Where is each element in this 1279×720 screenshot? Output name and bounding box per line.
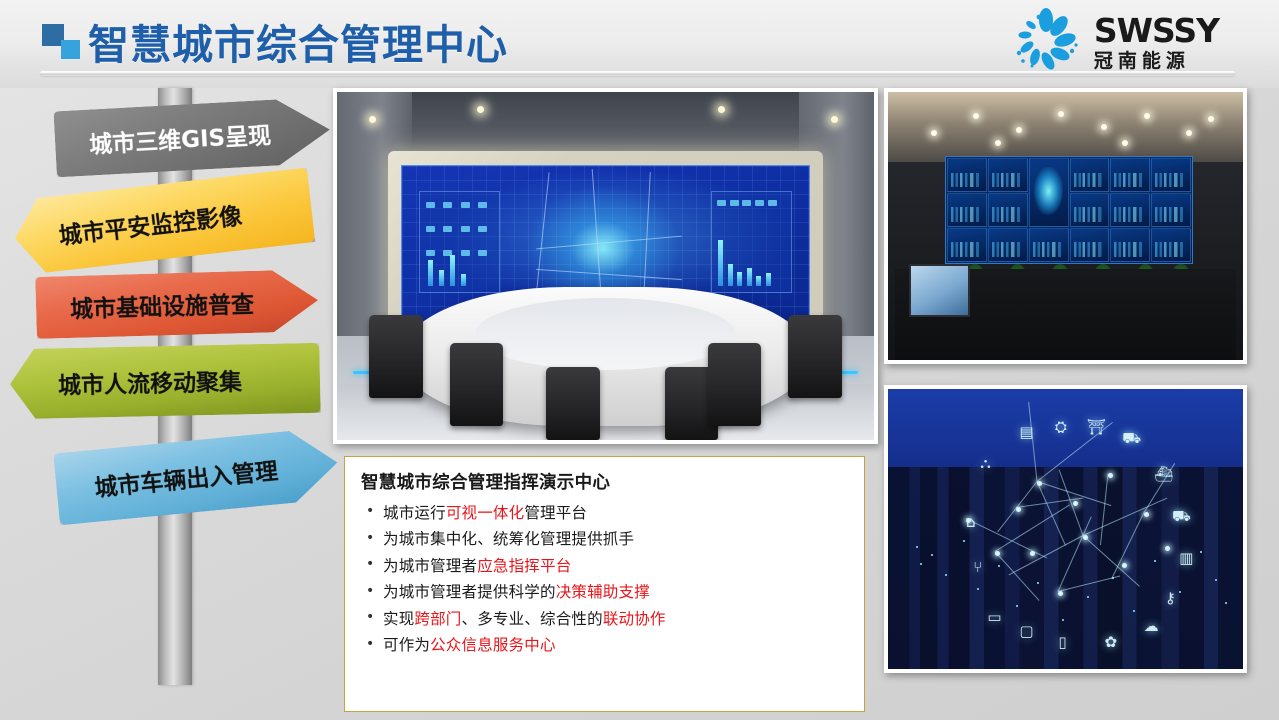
dashboard-map-tile <box>1029 158 1069 226</box>
cell-tower-icon: ⑂ <box>973 560 982 575</box>
decor-square-light-icon <box>61 40 80 59</box>
dashboard-tile <box>1110 193 1150 227</box>
highlighted-text: 公众信息服务中心 <box>430 636 556 654</box>
logo-chinese-name: 冠南能源 <box>1094 52 1219 71</box>
bullet-item: 为城市管理者提供科学的决策辅助支撑 <box>361 580 848 607</box>
bullet-text: 为城市管理者提供科学的 <box>383 583 556 601</box>
highlighted-text: 跨部门 <box>414 610 461 628</box>
train-icon: ⛴ <box>1154 467 1173 482</box>
dashboard-tile <box>1151 228 1191 262</box>
device-icon: ▭ <box>987 610 1001 625</box>
signpost-arrow-vehicle-access[interactable]: 城市车辆出入管理 <box>53 427 341 526</box>
command-center-room-photo <box>333 88 878 444</box>
dashboard-tile <box>1070 228 1110 262</box>
photo-canvas <box>888 92 1243 360</box>
photo-canvas: ▤ ⛭ ⛩ ⛟ ⛬ ⛴ ⌂ ⛟ ⑂ ▥ ▭ ▢ ▯ ✿ ☁ ⚷ <box>888 389 1243 669</box>
dashboard-tile <box>988 193 1028 227</box>
highlighted-text: 决策辅助支撑 <box>556 583 650 601</box>
highlighted-text: 联动协作 <box>603 610 666 628</box>
photo-canvas <box>337 92 874 440</box>
dashboard-tile <box>988 158 1028 192</box>
dashboard-tile <box>1110 228 1150 262</box>
signpost-arrow-crowd-flow[interactable]: 城市人流移动聚集 <box>9 343 320 419</box>
bullet-text: 城市运行 <box>383 504 446 522</box>
car-icon: ⛟ <box>1122 431 1141 446</box>
signpost-arrow-label: 城市基础设施普查 <box>70 285 255 324</box>
slide-header: 智慧城市综合管理中心 <box>0 0 1279 88</box>
room-ceiling <box>888 92 1243 162</box>
shopping-cart-icon: ⛬ <box>980 456 991 471</box>
dashboard-tile <box>947 193 987 227</box>
office-chair <box>788 315 842 399</box>
bullet-text: 为城市集中化、统筹化管理提供抓手 <box>383 530 634 548</box>
vehicle-icon: ⛟ <box>1172 509 1191 524</box>
bullet-text: 管理平台 <box>524 504 587 522</box>
signpost-arrow-label: 城市平安监控影像 <box>57 196 244 251</box>
highlighted-text: 应急指挥平台 <box>477 557 571 575</box>
office-chair <box>450 343 504 427</box>
highlighted-text: 可视一体化 <box>446 504 525 522</box>
key-icon: ⚷ <box>1165 591 1176 606</box>
dashboard-tile <box>1151 193 1191 227</box>
dashboard-tile <box>1110 158 1150 192</box>
bullet-text: 可作为 <box>383 636 430 654</box>
screen-panel-left <box>419 191 500 292</box>
dashboard-tile <box>1070 158 1110 192</box>
signpost-arrow-label: 城市三维GIS呈现 <box>88 116 272 160</box>
ceiling-light-icon <box>477 106 484 113</box>
water-droplet-flower-logo-icon <box>1010 7 1082 77</box>
desktop-monitor <box>909 264 969 318</box>
logo-wordmark: SWSSY <box>1094 14 1219 47</box>
dashboard-tile <box>947 158 987 192</box>
factory-icon: ⛭ <box>1055 420 1067 435</box>
bullet-item: 为城市管理者应急指挥平台 <box>361 553 848 580</box>
smart-city-iot-network-photo: ▤ ⛭ ⛩ ⛟ ⛬ ⛴ ⌂ ⛟ ⑂ ▥ ▭ ▢ ▯ ✿ ☁ ⚷ <box>884 385 1247 673</box>
signpost-arrow-infrastructure[interactable]: 城市基础设施普查 <box>35 269 319 339</box>
dashboard-tile <box>1070 193 1110 227</box>
gear-icon: ✿ <box>1105 635 1118 650</box>
signpost-group: 城市三维GIS呈现 城市平安监控影像 城市基础设施普查 城市人流移动聚集 城市车… <box>0 88 340 720</box>
page-title: 智慧城市综合管理中心 <box>88 11 508 71</box>
bullet-text: 、多专业、综合性的 <box>462 610 603 628</box>
dashboard-tile <box>947 228 987 262</box>
signpost-arrow-label: 城市车辆出入管理 <box>93 451 279 502</box>
phone-icon: ▯ <box>1058 635 1066 650</box>
control-room-videowall-photo <box>884 88 1247 364</box>
screen-panel-right <box>711 191 792 292</box>
bullet-list: 城市运行可视一体化管理平台为城市集中化、统筹化管理提供抓手为城市管理者应急指挥平… <box>361 500 848 659</box>
server-icon: ▥ <box>1179 551 1193 566</box>
bullet-item: 城市运行可视一体化管理平台 <box>361 500 848 527</box>
office-chair <box>369 315 423 399</box>
office-chair <box>708 343 762 427</box>
company-logo: SWSSY 冠南能源 <box>1010 6 1219 78</box>
building-icon: ▤ <box>1019 425 1033 440</box>
tower-icon: ⛩ <box>1087 420 1106 435</box>
bullet-item: 为城市集中化、统筹化管理提供抓手 <box>361 527 848 554</box>
laptop-icon: ▢ <box>1019 624 1033 639</box>
bullet-item: 可作为公众信息服务中心 <box>361 633 848 660</box>
bullet-text: 实现 <box>383 610 414 628</box>
video-wall-display <box>945 156 1194 263</box>
cloud-icon: ☁ <box>1144 619 1159 634</box>
signpost-arrow-label: 城市人流移动聚集 <box>58 362 243 400</box>
signpost-arrow-gis[interactable]: 城市三维GIS呈现 <box>53 97 331 178</box>
description-textbox: 智慧城市综合管理指挥演示中心 城市运行可视一体化管理平台为城市集中化、统筹化管理… <box>344 456 865 712</box>
home-icon: ⌂ <box>966 515 976 530</box>
bullet-item: 实现跨部门、多专业、综合性的联动协作 <box>361 606 848 633</box>
dashboard-tile <box>1029 228 1069 262</box>
dashboard-tile <box>988 228 1028 262</box>
dashboard-tile <box>1151 158 1191 192</box>
bullet-text: 为城市管理者 <box>383 557 477 575</box>
office-chair <box>546 367 600 440</box>
textbox-title: 智慧城市综合管理指挥演示中心 <box>361 469 848 494</box>
